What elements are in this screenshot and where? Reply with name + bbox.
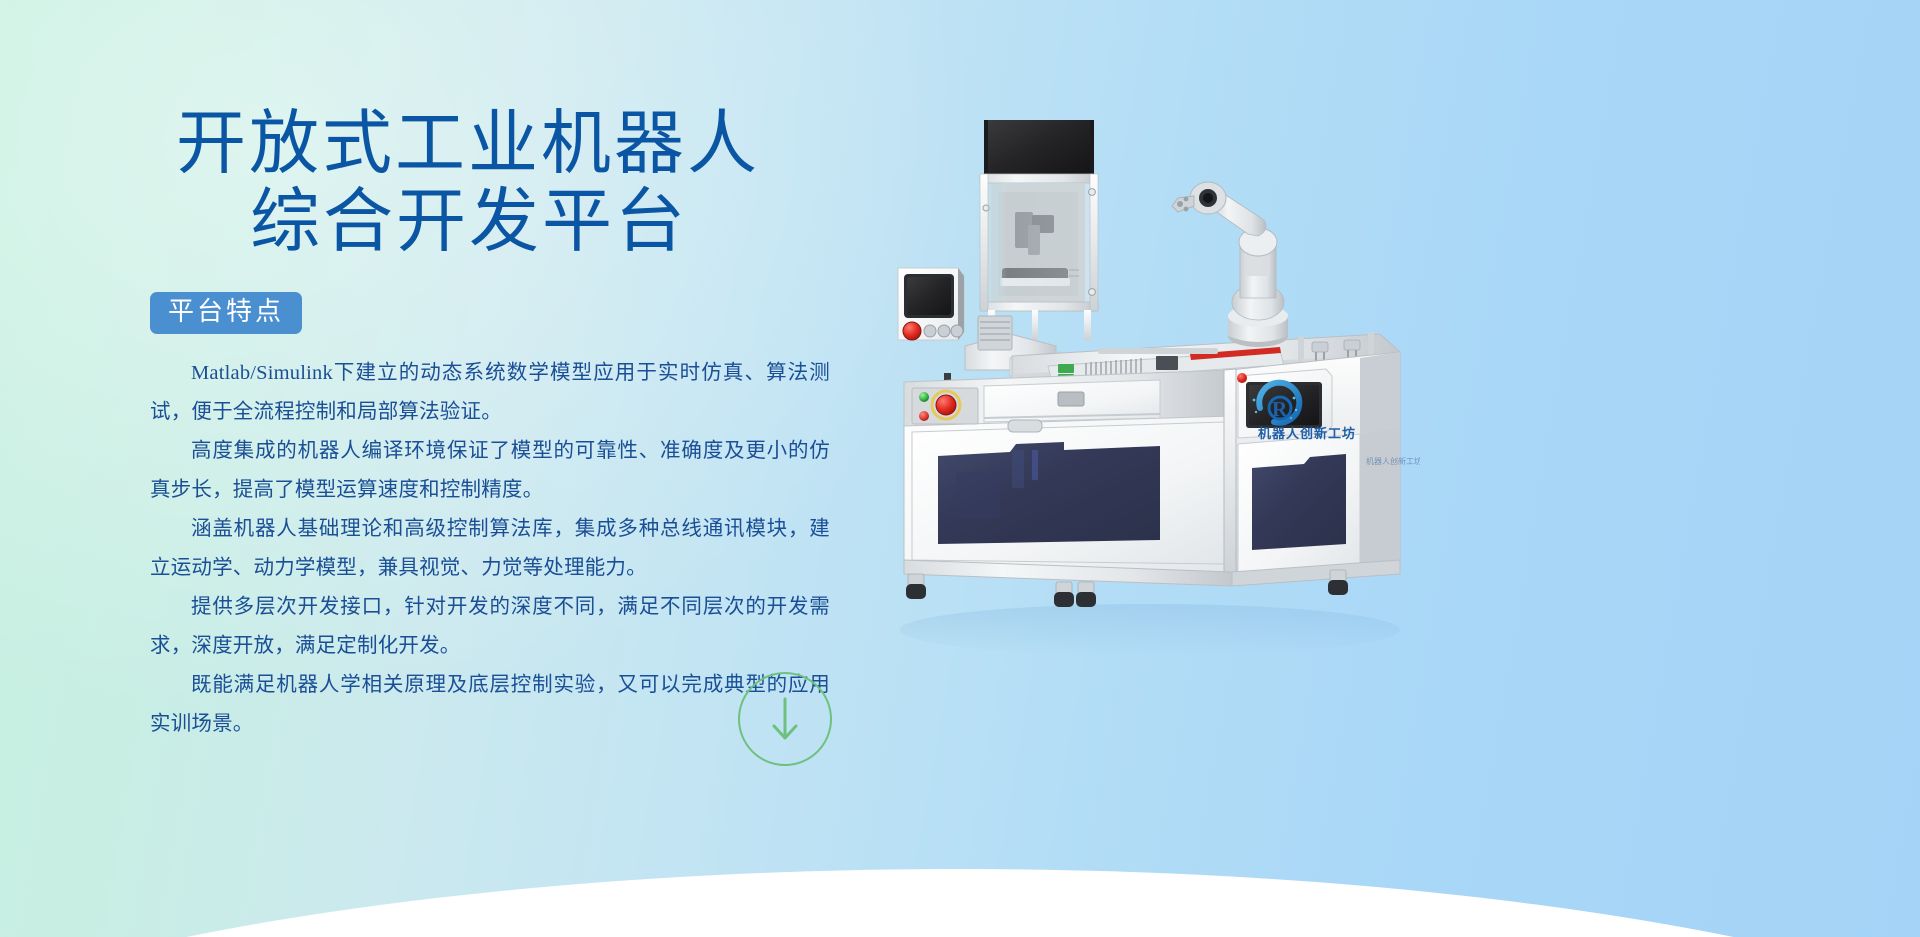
indicator-lamp-green	[919, 392, 929, 402]
indicator-lamp-red	[919, 411, 929, 421]
emergency-stop-button-left[interactable]	[903, 322, 921, 340]
base-cabinet-assembly: R 机器人创新工坊 机器人创新工坊	[904, 352, 1420, 586]
svg-text:R: R	[1272, 397, 1288, 421]
page-title-line-1: 开放式工业机器人	[150, 106, 830, 184]
enclosure-cabinet	[980, 174, 1098, 340]
feature-paragraph: 既能满足机器人学相关原理及底层控制实验，又可以完成典型的应用实训场景。	[150, 666, 830, 744]
feature-paragraph: 提供多层次开发接口，针对开发的深度不同，满足不同层次的开发需求，深度开放，满足定…	[150, 588, 830, 666]
scroll-down-button[interactable]	[738, 672, 832, 766]
hero-banner: R 机器人创新工坊 机器人创新工坊	[0, 0, 1920, 937]
hero-text-column: 开放式工业机器人 综合开发平台 平台特点 Matlab/Simulink下建立的…	[150, 106, 830, 744]
side-brand-logo-text: 机器人创新工坊	[1366, 456, 1420, 466]
feature-paragraph: 涵盖机器人基础理论和高级控制算法库，集成多种总线通讯模块，建立运动学、动力学模型…	[150, 510, 830, 588]
industrial-robot-arm	[1172, 182, 1288, 347]
machine-illustration: R 机器人创新工坊 机器人创新工坊	[860, 120, 1420, 780]
emergency-stop-button[interactable]	[936, 395, 956, 415]
page-title-line-2: 综合开发平台	[150, 184, 830, 262]
brand-logo-text: 机器人创新工坊	[1258, 426, 1356, 441]
feature-paragraph: Matlab/Simulink下建立的动态系统数学模型应用于实时仿真、算法测试，…	[150, 354, 830, 432]
feature-badge: 平台特点	[150, 292, 302, 334]
machine-floor-shadow	[900, 604, 1400, 656]
feature-paragraph: 高度集成的机器人编译环境保证了模型的可靠性、准确度及更小的仿真步长，提高了模型运…	[150, 432, 830, 510]
feature-paragraph-list: Matlab/Simulink下建立的动态系统数学模型应用于实时仿真、算法测试，…	[150, 354, 830, 744]
display-monitor	[984, 120, 1094, 180]
arrow-down-icon	[768, 693, 802, 745]
